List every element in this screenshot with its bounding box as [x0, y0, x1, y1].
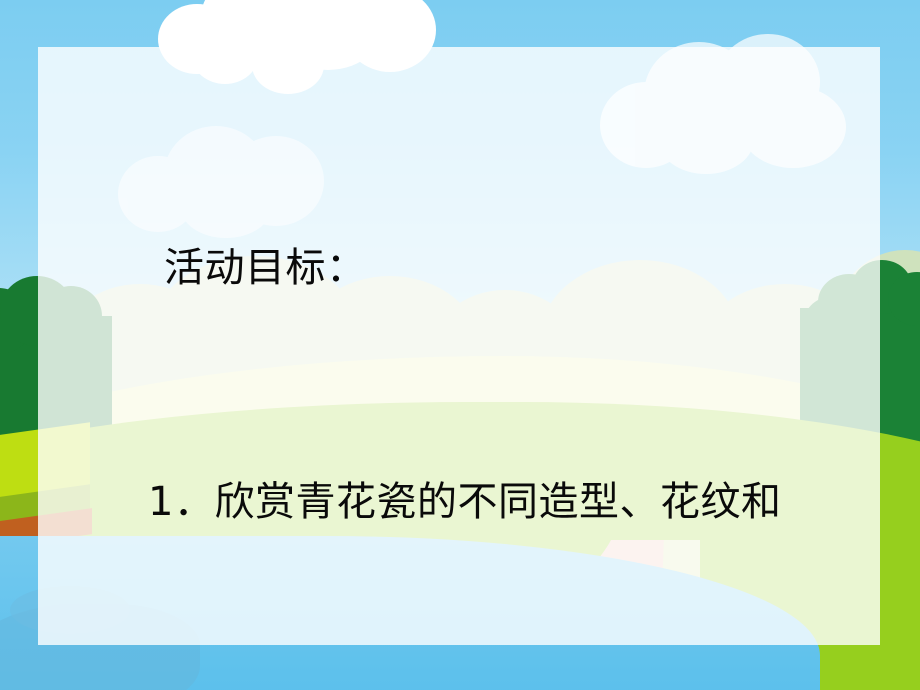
- content-panel: 活动目标： 1．欣赏青花瓷的不同造型、花纹和 蓝白色彩搭配的美，感受作品的造型和…: [38, 47, 880, 645]
- goal-1-line-1: 1．欣赏青花瓷的不同造型、花纹和: [68, 463, 850, 541]
- goals-text-block: 活动目标： 1．欣赏青花瓷的不同造型、花纹和 蓝白色彩搭配的美，感受作品的造型和…: [68, 73, 850, 690]
- slide-canvas: 活动目标： 1．欣赏青花瓷的不同造型、花纹和 蓝白色彩搭配的美，感受作品的造型和…: [0, 0, 920, 690]
- page-title: 活动目标：: [164, 229, 850, 307]
